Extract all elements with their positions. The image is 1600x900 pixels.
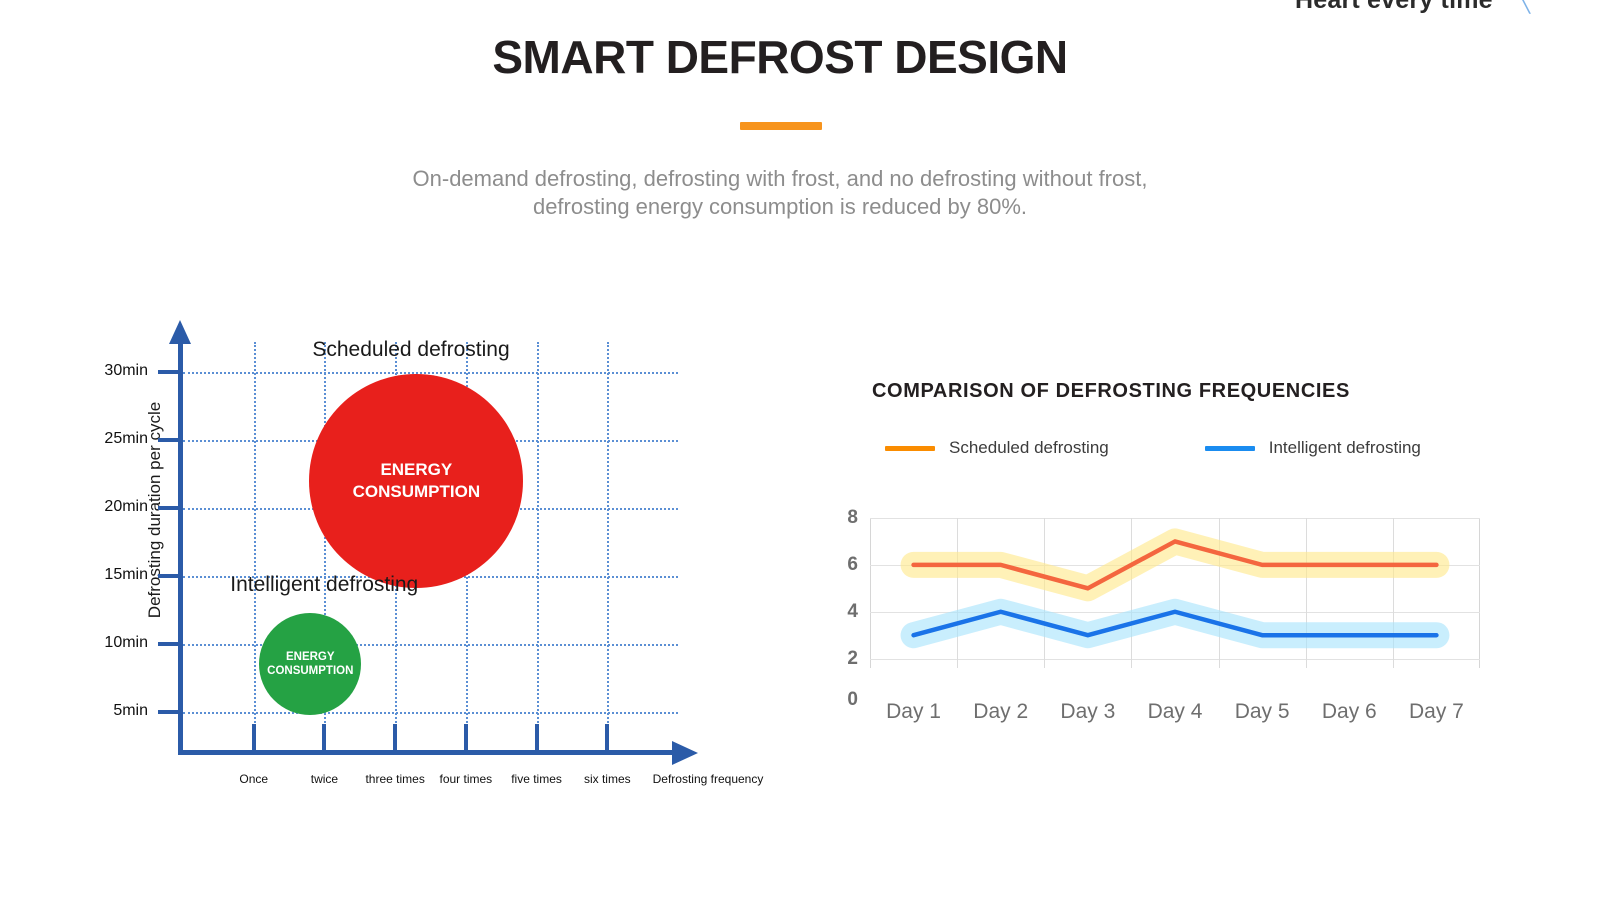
page-subtitle: On-demand defrosting, defrosting with fr… — [0, 165, 1560, 221]
y-axis-tick-label: 20min — [58, 498, 148, 516]
x-axis-tick-label: three times — [365, 772, 424, 786]
y-axis-tick-label: 10min — [58, 634, 148, 652]
bubble-chart-y-axis — [178, 342, 183, 754]
title-accent-rule — [740, 122, 822, 130]
x-axis-tick — [252, 724, 256, 750]
y-axis-tick — [158, 642, 182, 646]
gridline-vertical — [254, 342, 256, 750]
y-axis-tick — [158, 438, 182, 442]
y-axis-tick-label: 15min — [58, 566, 148, 584]
x-axis-tick-label: Day 1 — [886, 700, 941, 724]
bubble-label: ENERGYCONSUMPTION — [267, 650, 353, 679]
banner-cutoff-mark-icon: ╲ — [1518, 0, 1530, 15]
gridline-vertical — [607, 342, 609, 750]
x-axis-title: Defrosting frequency — [653, 772, 764, 786]
gridline-horizontal — [183, 712, 678, 714]
x-axis-tick — [464, 724, 468, 750]
bubble-label-line-1: ENERGY — [353, 459, 481, 480]
y-axis-tick-label: 0 — [818, 689, 858, 711]
y-axis-tick-label: 6 — [818, 554, 858, 576]
y-axis-tick-label: 30min — [58, 362, 148, 380]
y-axis-tick — [158, 574, 182, 578]
y-axis-tick-label: 5min — [58, 702, 148, 720]
bubble-caption-scheduled-defrosting: Scheduled defrosting — [312, 338, 509, 362]
legend-label: Scheduled defrosting — [949, 438, 1109, 458]
subtitle-line-1: On-demand defrosting, defrosting with fr… — [0, 165, 1560, 193]
x-axis-tick — [535, 724, 539, 750]
x-axis-tick-label: Day 6 — [1322, 700, 1377, 724]
x-axis-tick-label: five times — [511, 772, 562, 786]
x-axis-tick-label: Day 5 — [1235, 700, 1290, 724]
x-axis-tick-label: twice — [311, 772, 338, 786]
arrow-right-icon — [672, 741, 698, 765]
line-chart: COMPARISON OF DEFROSTING FREQUENCIES Sch… — [830, 360, 1490, 740]
legend-swatch-icon — [885, 446, 935, 451]
x-axis-tick-label: Day 4 — [1148, 700, 1203, 724]
y-axis-tick-label: 8 — [818, 507, 858, 529]
x-axis-tick — [322, 724, 326, 750]
bubble-label-line-2: CONSUMPTION — [267, 664, 353, 678]
legend-label: Intelligent defrosting — [1269, 438, 1421, 458]
y-axis-tick — [158, 370, 182, 374]
line-chart-title: COMPARISON OF DEFROSTING FREQUENCIES — [872, 380, 1350, 403]
legend-item-scheduled-defrosting[interactable]: Scheduled defrosting — [885, 438, 1109, 458]
x-axis-tick-label: Day 7 — [1409, 700, 1464, 724]
x-axis-tick — [605, 724, 609, 750]
y-axis-tick — [158, 710, 182, 714]
line-chart-plot: 02468Day 1Day 2Day 3Day 4Day 5Day 6Day 7 — [870, 518, 1480, 668]
x-axis-tick-label: four times — [440, 772, 493, 786]
x-axis-tick-label: six times — [584, 772, 631, 786]
banner-cutoff-text: Heart every time — [1295, 0, 1493, 15]
bubble-chart-y-axis-label: Defrosting duration per cycle — [145, 380, 165, 640]
gridline-horizontal — [183, 644, 678, 646]
legend-swatch-icon — [1205, 446, 1255, 451]
bubble-intelligent-defrosting[interactable]: ENERGYCONSUMPTION — [259, 613, 361, 715]
y-axis-tick-label: 2 — [818, 648, 858, 670]
page-title: SMART DEFROST DESIGN — [0, 30, 1560, 84]
line-chart-legend: Scheduled defrostingIntelligent defrosti… — [885, 438, 1421, 458]
gridline-vertical — [537, 342, 539, 750]
gridline-horizontal — [183, 372, 678, 374]
line-chart-series-layer — [870, 518, 1480, 668]
bubble-label-line-1: ENERGY — [267, 650, 353, 664]
y-axis-tick-label: 4 — [818, 601, 858, 623]
x-axis-tick-label: Day 2 — [973, 700, 1028, 724]
y-axis-tick-label: 25min — [58, 430, 148, 448]
bubble-label: ENERGYCONSUMPTION — [353, 459, 481, 502]
arrow-up-icon — [169, 320, 191, 344]
bubble-label-line-2: CONSUMPTION — [353, 481, 481, 502]
page-root: Heart every time ╲ SMART DEFROST DESIGN … — [0, 0, 1600, 900]
bubble-chart-x-axis — [178, 750, 678, 755]
legend-item-intelligent-defrosting[interactable]: Intelligent defrosting — [1205, 438, 1421, 458]
y-axis-tick — [158, 506, 182, 510]
x-axis-tick-label: Day 3 — [1060, 700, 1115, 724]
x-axis-tick-label: Once — [239, 772, 268, 786]
subtitle-line-2: defrosting energy consumption is reduced… — [0, 193, 1560, 221]
bubble-caption-intelligent-defrosting: Intelligent defrosting — [230, 573, 418, 597]
bubble-scheduled-defrosting[interactable]: ENERGYCONSUMPTION — [309, 374, 523, 588]
bubble-chart: Defrosting duration per cycle 5min10min1… — [60, 320, 760, 820]
x-axis-tick — [393, 724, 397, 750]
